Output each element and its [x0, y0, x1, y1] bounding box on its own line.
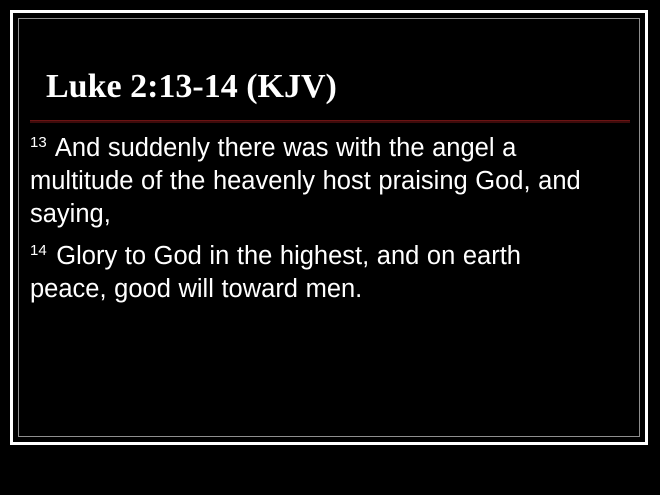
scripture-slide: Luke 2:13-14 (KJV) 13 And suddenly there… — [0, 0, 660, 495]
scripture-body: 13 And suddenly there was with the angel… — [30, 132, 604, 306]
page-title: Luke 2:13-14 (KJV) — [46, 67, 626, 107]
verse-text: Glory to God in the highest, and on eart… — [30, 242, 521, 303]
verse-paragraph: 14 Glory to God in the highest, and on e… — [30, 240, 604, 306]
verse-text: And suddenly there was with the angel a … — [30, 134, 581, 228]
verse-number: 14 — [30, 242, 49, 259]
verse-paragraph: 13 And suddenly there was with the angel… — [30, 132, 604, 231]
title-divider — [30, 120, 630, 123]
verse-number: 13 — [30, 134, 49, 151]
